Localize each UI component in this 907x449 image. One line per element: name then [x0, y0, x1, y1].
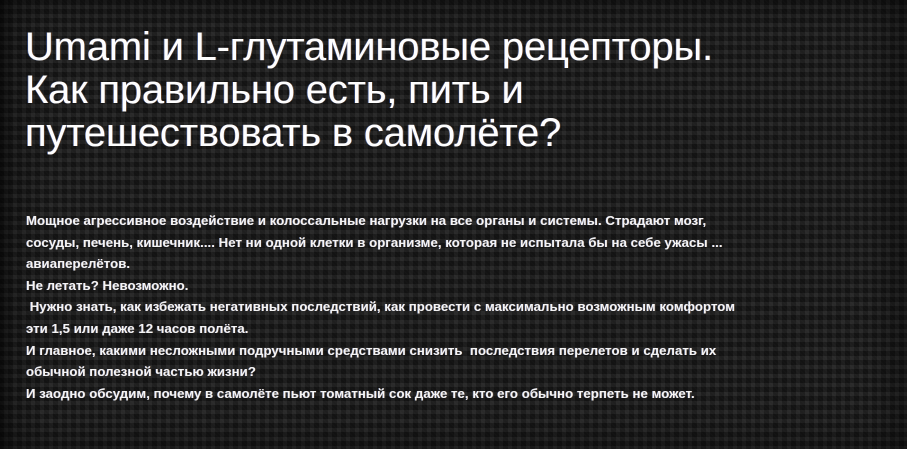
body-line-6: эти 1,5 или даже 12 часов полёта.: [26, 318, 896, 340]
title-line-2: Как правильно есть, пить и: [25, 69, 885, 112]
slide-content: Umami и L-глутаминовые рецепторы. Как пр…: [0, 0, 907, 449]
body-line-9: И заодно обсудим, почему в самолёте пьют…: [26, 383, 896, 405]
body-line-7: И главное, какими несложными подручными …: [26, 340, 896, 362]
body-line-3: авиаперелётов.: [26, 253, 896, 275]
presentation-slide: Umami и L-глутаминовые рецепторы. Как пр…: [0, 0, 907, 449]
body-line-1: Мощное агрессивное воздействие и колосса…: [26, 210, 896, 232]
body-line-4: Не летать? Невозможно.: [26, 275, 896, 297]
title-line-3: путешествовать в самолёте?: [25, 112, 885, 155]
slide-title: Umami и L-глутаминовые рецепторы. Как пр…: [25, 26, 885, 155]
slide-body-text: Мощное агрессивное воздействие и колосса…: [26, 210, 896, 404]
body-line-2: сосуды, печень, кишечник.... Нет ни одно…: [26, 232, 896, 254]
body-line-5: Нужно знать, как избежать негативных пос…: [26, 296, 896, 318]
body-line-8: обычной полезной частью жизни?: [26, 361, 896, 383]
title-line-1: Umami и L-глутаминовые рецепторы.: [25, 26, 885, 69]
